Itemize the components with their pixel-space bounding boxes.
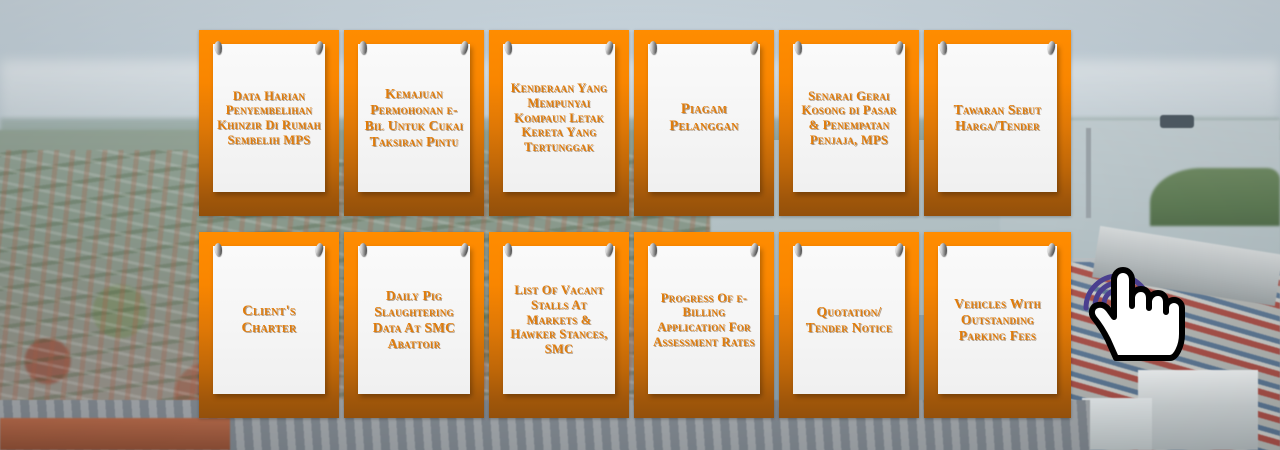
pin-nail-icon <box>359 243 368 257</box>
card-paper: Vehicles With Outstanding Parking Fees <box>938 246 1057 394</box>
card-label: List Of Vacant Stalls At Markets & Hawke… <box>507 283 611 357</box>
card-paper: Tawaran Sebut Harga/Tender <box>938 44 1057 192</box>
pin-nail-icon <box>214 243 223 257</box>
pin-nail-icon <box>750 41 759 55</box>
quick-link-card-data-harian-penyembelihan[interactable]: Data Harian Penyembelihan Khinzir Di Rum… <box>199 30 339 216</box>
pin-nail-icon <box>794 243 803 257</box>
quick-link-card-vehicles-outstanding-parking-fees[interactable]: Vehicles With Outstanding Parking Fees <box>924 232 1071 418</box>
pin-nail-icon <box>359 41 368 55</box>
quick-link-card-kemajuan-permohonan-e-bil[interactable]: Kemajuan Permohonan e-Bil Untuk Cukai Ta… <box>344 30 484 216</box>
card-label: Senarai Gerai Kosong di Pasar & Penempat… <box>797 89 901 148</box>
pin-nail-icon <box>315 41 324 55</box>
quick-link-card-tawaran-sebut-harga-tender[interactable]: Tawaran Sebut Harga/Tender <box>924 30 1071 216</box>
card-paper: Daily Pig Slaughtering Data At SMC Abatt… <box>358 246 470 394</box>
pin-nail-icon <box>1047 41 1056 55</box>
card-label: Progress Of e-Billing Application For As… <box>652 291 756 350</box>
card-paper: Kemajuan Permohonan e-Bil Untuk Cukai Ta… <box>358 44 470 192</box>
quick-link-card-list-of-vacant-stalls[interactable]: List Of Vacant Stalls At Markets & Hawke… <box>489 232 629 418</box>
pin-nail-icon <box>460 243 469 257</box>
pin-nail-icon <box>895 243 904 257</box>
quick-link-card-piagam-pelanggan[interactable]: Piagam Pelanggan <box>634 30 774 216</box>
grid-row-2: Client's Charter Daily Pig Slaughtering … <box>199 232 1081 418</box>
card-label: Vehicles With Outstanding Parking Fees <box>942 296 1053 344</box>
card-paper: Kenderaan Yang Mempunyai Kompaun Letak K… <box>503 44 615 192</box>
card-paper: List Of Vacant Stalls At Markets & Hawke… <box>503 246 615 394</box>
pin-nail-icon <box>504 243 513 257</box>
pin-nail-icon <box>214 41 223 55</box>
quick-link-card-quotation-tender-notice[interactable]: Quotation/ Tender Notice <box>779 232 919 418</box>
page-root: Data Harian Penyembelihan Khinzir Di Rum… <box>0 0 1280 450</box>
card-label: Piagam Pelanggan <box>652 101 756 135</box>
quick-link-card-clients-charter[interactable]: Client's Charter <box>199 232 339 418</box>
card-paper: Client's Charter <box>213 246 325 394</box>
pin-nail-icon <box>1047 243 1056 257</box>
pin-nail-icon <box>605 41 614 55</box>
pin-nail-icon <box>504 41 513 55</box>
quick-link-card-daily-pig-slaughtering-data[interactable]: Daily Pig Slaughtering Data At SMC Abatt… <box>344 232 484 418</box>
quick-link-card-progress-of-e-billing[interactable]: Progress Of e-Billing Application For As… <box>634 232 774 418</box>
card-paper: Progress Of e-Billing Application For As… <box>648 246 760 394</box>
pin-nail-icon <box>315 243 324 257</box>
quick-link-grid: Data Harian Penyembelihan Khinzir Di Rum… <box>199 30 1081 418</box>
pin-nail-icon <box>649 41 658 55</box>
grid-row-1: Data Harian Penyembelihan Khinzir Di Rum… <box>199 30 1081 216</box>
quick-link-card-kenderaan-kompaun-letak-kereta[interactable]: Kenderaan Yang Mempunyai Kompaun Letak K… <box>489 30 629 216</box>
card-label: Quotation/ Tender Notice <box>797 304 901 336</box>
pin-nail-icon <box>895 41 904 55</box>
quick-link-card-senarai-gerai-kosong[interactable]: Senarai Gerai Kosong di Pasar & Penempat… <box>779 30 919 216</box>
card-paper: Senarai Gerai Kosong di Pasar & Penempat… <box>793 44 905 192</box>
pin-nail-icon <box>649 243 658 257</box>
pin-nail-icon <box>794 41 803 55</box>
card-label: Kemajuan Permohonan e-Bil Untuk Cukai Ta… <box>362 86 466 150</box>
pin-nail-icon <box>939 243 948 257</box>
card-label: Client's Charter <box>217 303 321 337</box>
card-label: Data Harian Penyembelihan Khinzir Di Rum… <box>217 89 321 148</box>
card-label: Daily Pig Slaughtering Data At SMC Abatt… <box>362 288 466 352</box>
pin-nail-icon <box>939 41 948 55</box>
pin-nail-icon <box>605 243 614 257</box>
card-paper: Data Harian Penyembelihan Khinzir Di Rum… <box>213 44 325 192</box>
card-paper: Quotation/ Tender Notice <box>793 246 905 394</box>
card-paper: Piagam Pelanggan <box>648 44 760 192</box>
pin-nail-icon <box>460 41 469 55</box>
card-label: Kenderaan Yang Mempunyai Kompaun Letak K… <box>507 81 611 155</box>
pin-nail-icon <box>750 243 759 257</box>
card-label: Tawaran Sebut Harga/Tender <box>942 102 1053 134</box>
